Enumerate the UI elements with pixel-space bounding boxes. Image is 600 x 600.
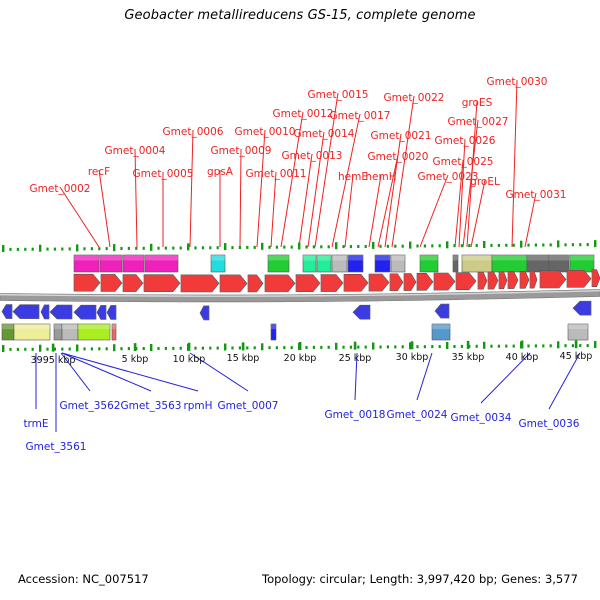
gene-label-forward[interactable]: hemE	[338, 171, 368, 183]
gene-label-forward[interactable]: hemH	[365, 171, 396, 183]
leader-line	[378, 155, 398, 247]
gene-label-reverse[interactable]: rpmH	[183, 400, 212, 412]
leader-line	[240, 149, 241, 247]
gene-label-forward[interactable]: Gmet_0004	[105, 145, 166, 157]
gene-label-reverse[interactable]: Gmet_3561	[26, 441, 87, 453]
lower-feature-boxes	[2, 324, 588, 340]
axis-tick-mark	[575, 340, 578, 348]
axis-tick-label: 40 kbp	[506, 352, 539, 363]
genome-summary-text: Topology: circular; Length: 3,997,420 bp…	[262, 572, 578, 586]
leader-line	[99, 170, 110, 247]
axis-tick-mark	[134, 343, 137, 351]
axis-tick-label: 10 kbp	[173, 354, 206, 365]
axis-tick-label: 20 kbp	[284, 353, 317, 364]
gene-label-forward[interactable]: Gmet_0017	[330, 110, 391, 122]
axis-tick-label: 30 kbp	[396, 352, 429, 363]
gene-label-forward[interactable]: Gmet_0005	[133, 168, 194, 180]
axis-tick-label: 25 kbp	[339, 353, 372, 364]
gene-label-forward[interactable]: gpsA	[207, 166, 233, 178]
gene-label-reverse[interactable]: Gmet_0034	[451, 412, 512, 424]
leader-line	[512, 80, 517, 247]
gene-label-forward[interactable]: Gmet_0020	[368, 151, 429, 163]
gene-label-reverse[interactable]: Gmet_3563	[121, 400, 182, 412]
gene-label-forward[interactable]: Gmet_0009	[211, 145, 272, 157]
axis-tick-mark	[242, 342, 245, 350]
gene-label-forward[interactable]: recF	[88, 166, 110, 178]
gene-label-forward[interactable]: Gmet_0025	[433, 156, 494, 168]
gene-label-forward[interactable]: Gmet_0012	[273, 108, 334, 120]
gene-label-forward[interactable]: Gmet_0002	[30, 183, 91, 195]
gene-label-reverse[interactable]: Gmet_0007	[218, 400, 279, 412]
gene-label-forward[interactable]: Gmet_0021	[371, 130, 432, 142]
axis-tick-mark	[299, 342, 302, 350]
accession-text: Accession: NC_007517	[18, 572, 149, 586]
leader-line	[471, 180, 485, 247]
upper-tick-row	[2, 240, 596, 252]
gene-label-forward[interactable]: Gmet_0006	[163, 126, 224, 138]
gene-label-reverse[interactable]: Gmet_0018	[325, 409, 386, 421]
gene-label-reverse[interactable]: Gmet_0024	[387, 409, 448, 421]
axis-tick-label: 5 kbp	[122, 354, 149, 365]
leader-line	[60, 187, 99, 247]
leader-line	[420, 175, 448, 247]
leader-line	[345, 175, 353, 247]
gene-label-forward[interactable]: Gmet_0010	[235, 126, 296, 138]
gene-label-forward[interactable]: Gmet_0026	[435, 135, 496, 147]
leader-line	[525, 193, 536, 247]
gene-label-forward[interactable]: Gmet_0030	[487, 76, 548, 88]
genome-viewer: Geobacter metallireducens GS-15, complet…	[0, 0, 600, 600]
gene-label-forward[interactable]: Gmet_0015	[308, 89, 369, 101]
gene-label-forward[interactable]: Gmet_0013	[282, 150, 343, 162]
gene-label-forward[interactable]: Gmet_0011	[246, 168, 307, 180]
axis-tick-label: 15 kbp	[227, 353, 260, 364]
gene-label-forward[interactable]: groEL	[470, 176, 500, 188]
leader-line	[369, 175, 381, 247]
leader-line	[271, 172, 276, 247]
axis-tick-mark	[521, 341, 524, 349]
leader-line	[190, 130, 193, 247]
upper-feature-boxes	[74, 255, 594, 272]
gene-label-forward[interactable]: groES	[462, 97, 492, 109]
gene-label-reverse[interactable]: Gmet_0036	[519, 418, 580, 430]
gene-label-reverse[interactable]: Gmet_3562	[60, 400, 121, 412]
gene-label-forward[interactable]: Gmet_0027	[448, 116, 509, 128]
axis-tick-label: 35 kbp	[452, 352, 485, 363]
gene-label-forward[interactable]: Gmet_0014	[294, 128, 355, 140]
axis-tick-label: 45 kbp	[560, 351, 593, 362]
axis-tick-label: 3995 kbp	[31, 355, 76, 366]
forward-gene-arrows	[74, 270, 600, 292]
reverse-gene-arrows	[2, 301, 591, 320]
gene-label-forward[interactable]: Gmet_0031	[506, 189, 567, 201]
leader-line	[135, 149, 137, 247]
axis-tick-mark	[188, 343, 191, 351]
gene-label-reverse[interactable]: trmE	[23, 418, 48, 430]
gene-label-forward[interactable]: Gmet_0022	[384, 92, 445, 104]
axis-tick-mark	[52, 344, 55, 352]
graphics-layer	[0, 0, 600, 600]
axis-tick-mark	[411, 341, 414, 349]
axis-tick-mark	[354, 342, 357, 350]
axis-tick-mark	[467, 341, 470, 349]
